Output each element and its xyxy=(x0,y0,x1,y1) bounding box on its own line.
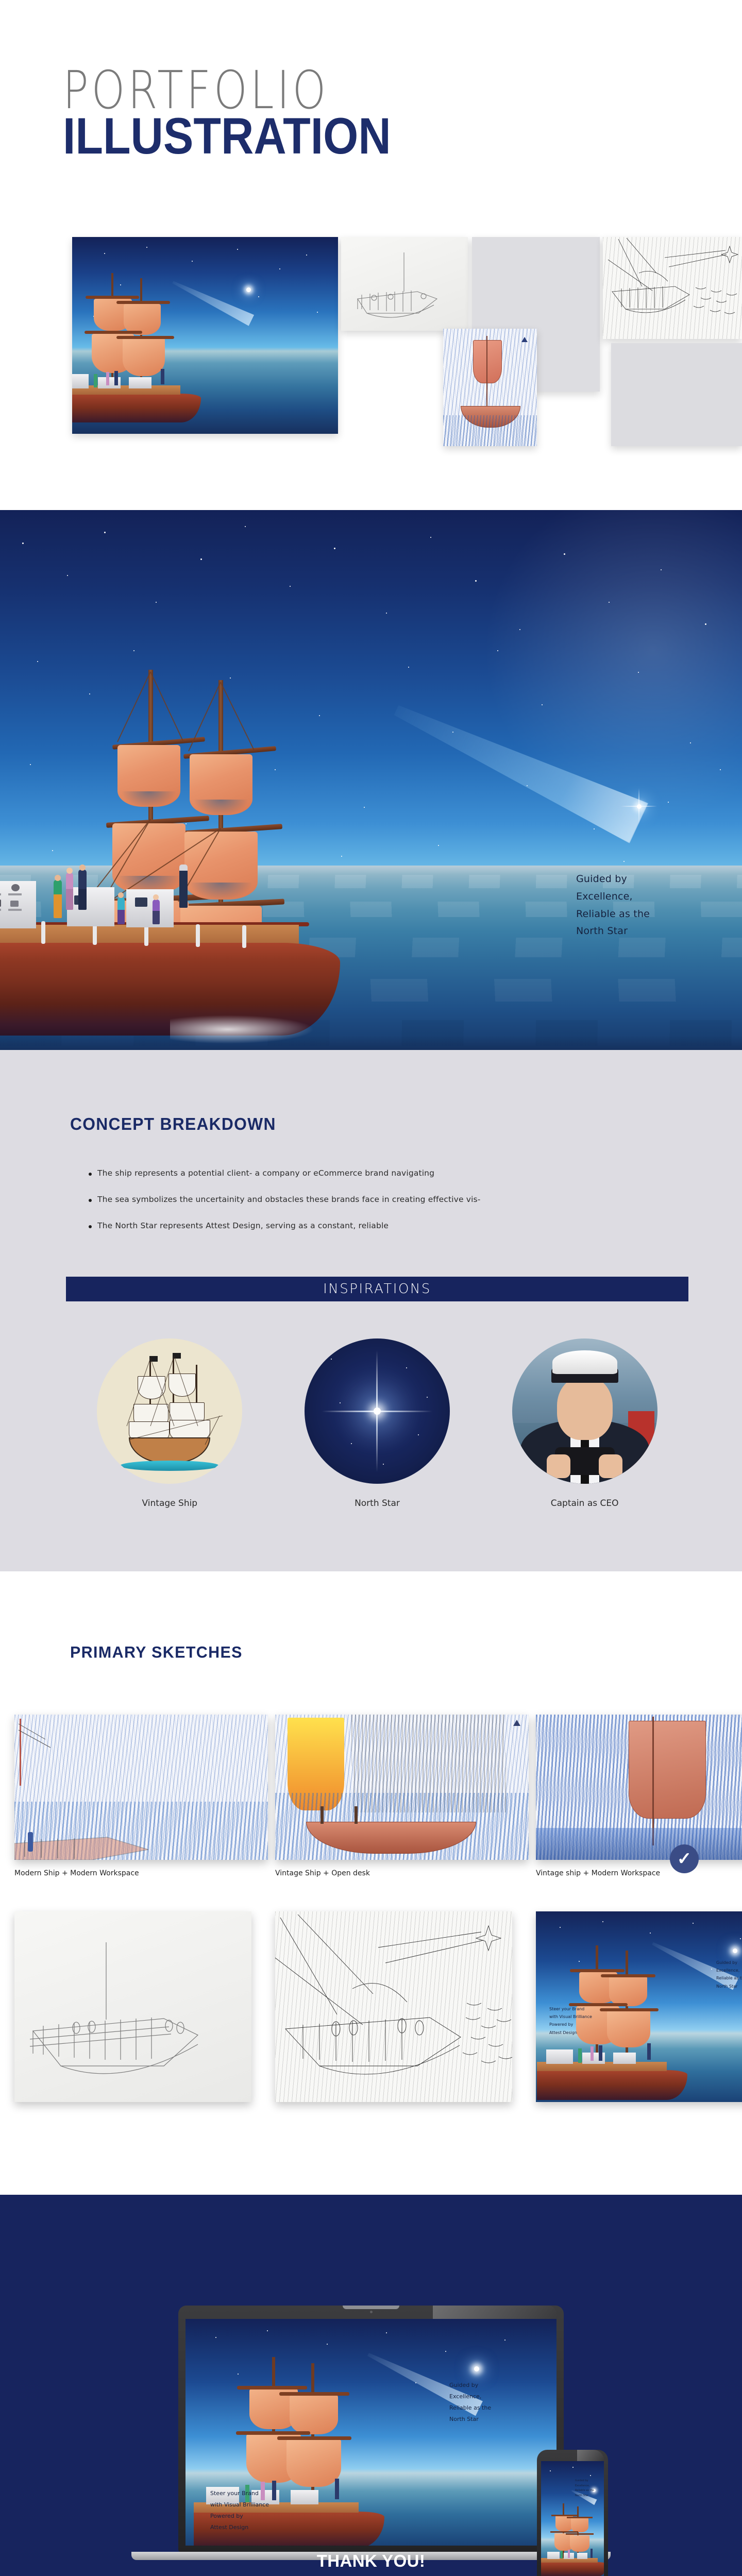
caption-line: Reliable as the xyxy=(449,2402,491,2414)
thumb-ink-sketch[interactable] xyxy=(603,237,742,339)
caption-line: Attest Design xyxy=(549,2029,592,2037)
hero-illustration: Guided by Excellence, Reliable as the No… xyxy=(0,510,742,1050)
caption-line: with Visual Brilliance xyxy=(210,2499,269,2511)
list-item: The ship represents a potential client- … xyxy=(89,1168,707,1178)
caption-line: North Star xyxy=(575,2494,594,2499)
list-item: The sea symbolizes the uncertainity and … xyxy=(89,1195,707,1204)
sketch-caption: Vintage Ship + Open desk xyxy=(275,1869,370,1877)
primary-sketches-heading: PRIMARY SKETCHES xyxy=(70,1643,243,1662)
bullet-text: The North Star represents Attest Design,… xyxy=(97,1221,389,1230)
hero-caption-right: Guided by Excellence, Reliable as the No… xyxy=(576,871,650,940)
concept-bullet-list: The ship represents a potential client- … xyxy=(89,1168,707,1247)
sketch-card[interactable] xyxy=(275,1715,529,1860)
caption-line: Guided by xyxy=(575,2479,594,2484)
north-star-icon xyxy=(305,1338,450,1484)
caption-line: Excellence, xyxy=(449,2391,491,2402)
caption-line: Steer your Brand xyxy=(549,2005,592,2013)
caption-line: Powered by xyxy=(549,2021,592,2028)
sketch-card[interactable] xyxy=(275,1911,512,2102)
bullet-dot-icon xyxy=(89,1199,92,1202)
title-section: PORTFOLIO ILLUSTRATION xyxy=(0,0,742,242)
bullet-dot-icon xyxy=(89,1173,92,1176)
inspiration-item-north-star[interactable]: North Star xyxy=(295,1338,460,1509)
selected-check-icon: ✓ xyxy=(670,1844,699,1873)
inspiration-label: Captain as CEO xyxy=(502,1498,667,1509)
thumbnail-strip xyxy=(0,242,742,510)
page-title: PORTFOLIO ILLUSTRATION xyxy=(63,67,384,155)
inspirations-grid: Vintage Ship North Star xyxy=(66,1338,688,1509)
inspiration-label: North Star xyxy=(295,1498,460,1509)
thumb-color-sketch[interactable] xyxy=(443,329,537,446)
laptop-screen: Steer your Brand with Visual Brilliance … xyxy=(185,2319,556,2546)
thumb-final-illustration[interactable] xyxy=(72,237,338,434)
caption-line: Guided by xyxy=(449,2380,491,2391)
north-star-icon xyxy=(621,788,657,824)
crew-member xyxy=(153,900,160,924)
list-item: The North Star represents Attest Design,… xyxy=(89,1221,707,1230)
laptop-mockup: Steer your Brand with Visual Brilliance … xyxy=(178,2306,564,2560)
bullet-text: The ship represents a potential client- … xyxy=(97,1168,434,1178)
caption-line: Reliable as the xyxy=(576,906,650,923)
captain-photo xyxy=(512,1338,657,1484)
caption-line: Attest Design xyxy=(210,2522,269,2533)
sketch-card[interactable] xyxy=(14,1911,251,2102)
caption-line: Excellence, xyxy=(575,2484,594,2489)
caption-line: Steer your Brand xyxy=(210,2488,269,2499)
thumb-blank-2[interactable] xyxy=(611,343,742,446)
bullet-dot-icon xyxy=(89,1225,92,1228)
crew-member xyxy=(66,873,73,910)
sketch-card[interactable] xyxy=(536,1715,742,1860)
primary-sketches-section: PRIMARY SKETCHES Modern Ship + Modern Wo… xyxy=(0,1571,742,2195)
vintage-ship-icon xyxy=(97,1338,242,1484)
workstation xyxy=(126,889,174,927)
thank-you-text: THANK YOU! xyxy=(0,2551,742,2571)
crew-member xyxy=(78,870,87,910)
ship-illustration xyxy=(0,665,423,1046)
concept-inspirations-section: CONCEPT BREAKDOWN The ship represents a … xyxy=(0,1050,742,1571)
inspiration-label: Vintage Ship xyxy=(87,1498,252,1509)
inspiration-item-captain[interactable]: Captain as CEO xyxy=(502,1338,667,1509)
caption-line: Reliable as the xyxy=(575,2488,594,2494)
caption-line: Excellence, xyxy=(576,888,650,906)
bullet-text: The sea symbolizes the uncertainity and … xyxy=(97,1195,481,1204)
caption-line: North Star xyxy=(449,2414,491,2425)
caption-line: North Star xyxy=(576,923,650,940)
workstation xyxy=(67,887,114,926)
inspiration-item-vintage-ship[interactable]: Vintage Ship xyxy=(87,1338,252,1509)
captain xyxy=(179,865,188,908)
thumb-pencil-sketch[interactable] xyxy=(341,237,468,331)
sketch-card[interactable] xyxy=(14,1715,268,1860)
crew-member xyxy=(117,897,125,924)
crew-member xyxy=(54,880,62,918)
caption-line: Powered by xyxy=(210,2511,269,2522)
caption-line: Excellence, xyxy=(716,1967,742,1974)
sketch-card-final[interactable]: Steer your Brand with Visual Brilliance … xyxy=(536,1911,742,2102)
concept-breakdown-heading: CONCEPT BREAKDOWN xyxy=(70,1115,276,1134)
caption-line: Guided by xyxy=(576,871,650,888)
inspirations-banner: INSPIRATIONS xyxy=(66,1277,688,1301)
caption-line: North Star xyxy=(716,1982,742,1990)
caption-line: with Visual Brilliance xyxy=(549,2013,592,2021)
mockup-thanks-section: Steer your Brand with Visual Brilliance … xyxy=(0,2195,742,2576)
caption-line: Guided by xyxy=(716,1959,742,1967)
caption-line: Reliable as the xyxy=(716,1974,742,1982)
sketch-caption: Vintage ship + Modern Workspace xyxy=(536,1869,660,1877)
sketch-caption: Modern Ship + Modern Workspace xyxy=(14,1869,139,1877)
title-line-illustration: ILLUSTRATION xyxy=(63,111,391,162)
camera-icon xyxy=(370,2311,373,2313)
